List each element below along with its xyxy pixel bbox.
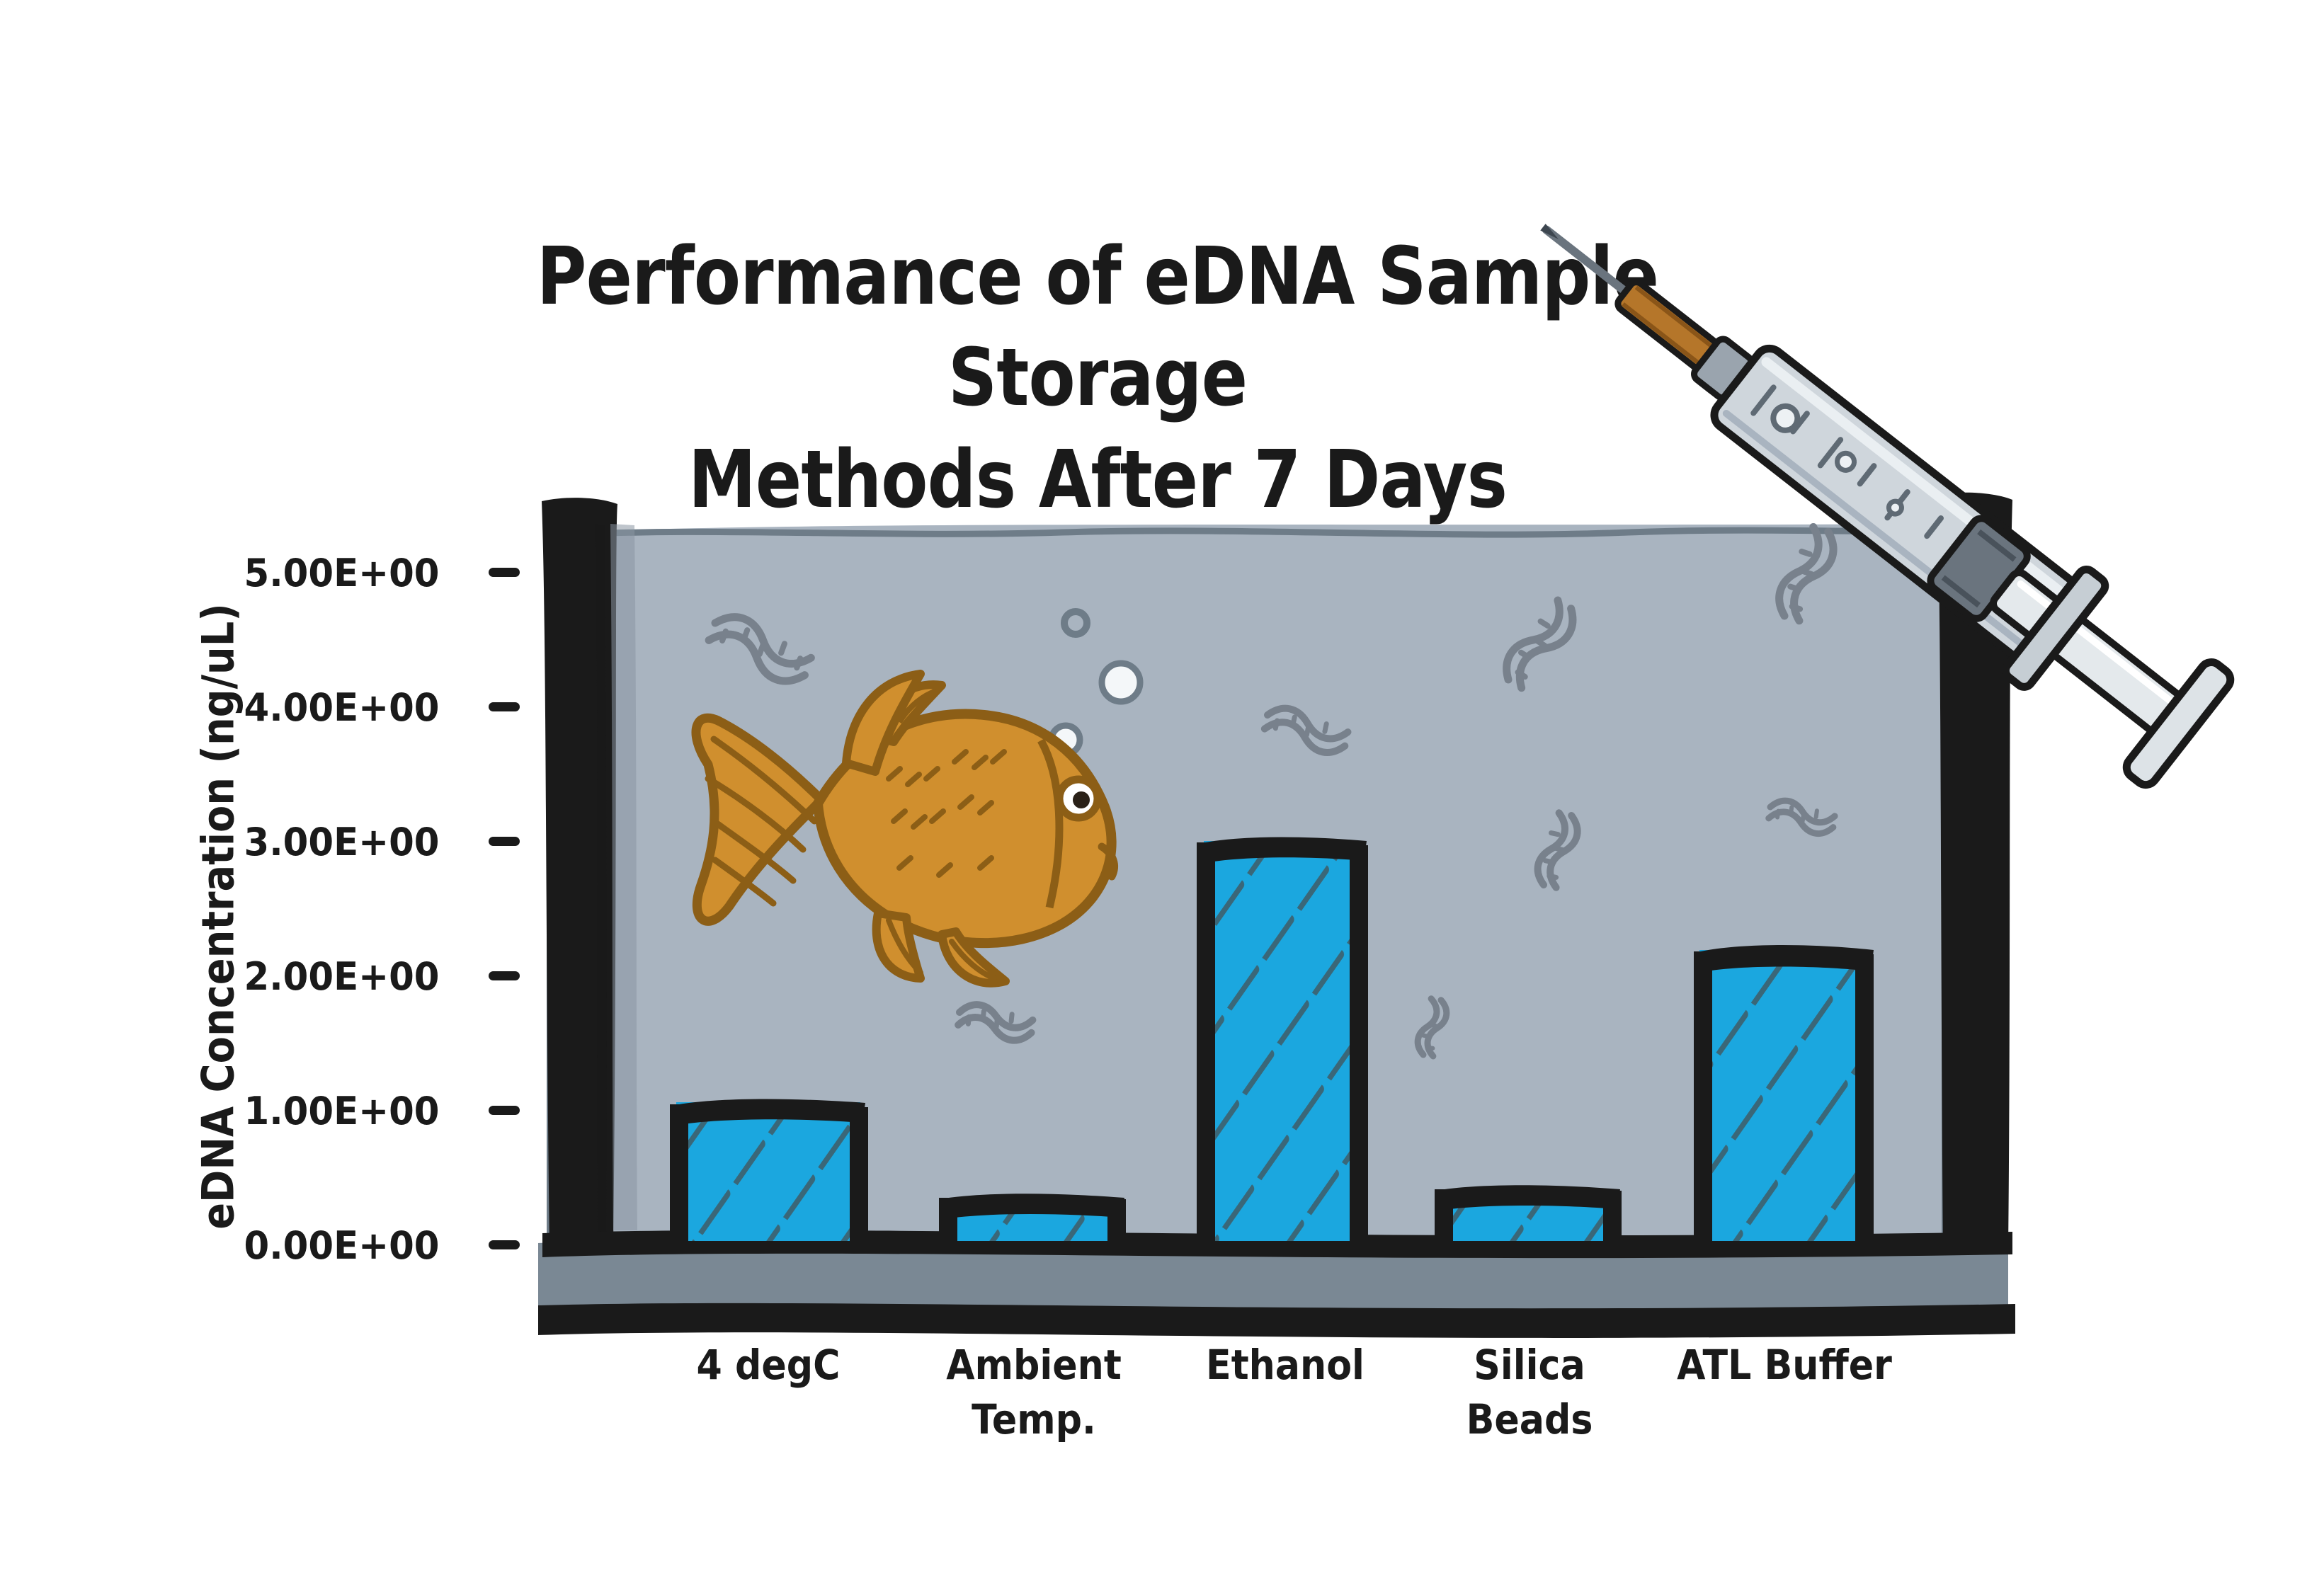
bar-ethanol[interactable]: [1183, 828, 1388, 1260]
x-tick-label-ambient-temp: Ambient Temp.: [932, 1338, 1136, 1446]
aquarium-illustration: [0, 0, 2324, 1585]
x-tick-label-silica-beads: Silica Beads: [1434, 1338, 1625, 1446]
bar-atl-buffer[interactable]: [1682, 938, 1894, 1257]
x-tick-label-ethanol: Ethanol: [1190, 1338, 1381, 1392]
chart-canvas: Performance of eDNA Sample Storage Metho…: [0, 0, 2324, 1585]
x-tick-label-atl-buffer: ATL Buffer: [1676, 1338, 1893, 1392]
bar-4-degc[interactable]: [659, 1090, 885, 1260]
x-tick-label-4-degc: 4 degC: [673, 1338, 864, 1392]
